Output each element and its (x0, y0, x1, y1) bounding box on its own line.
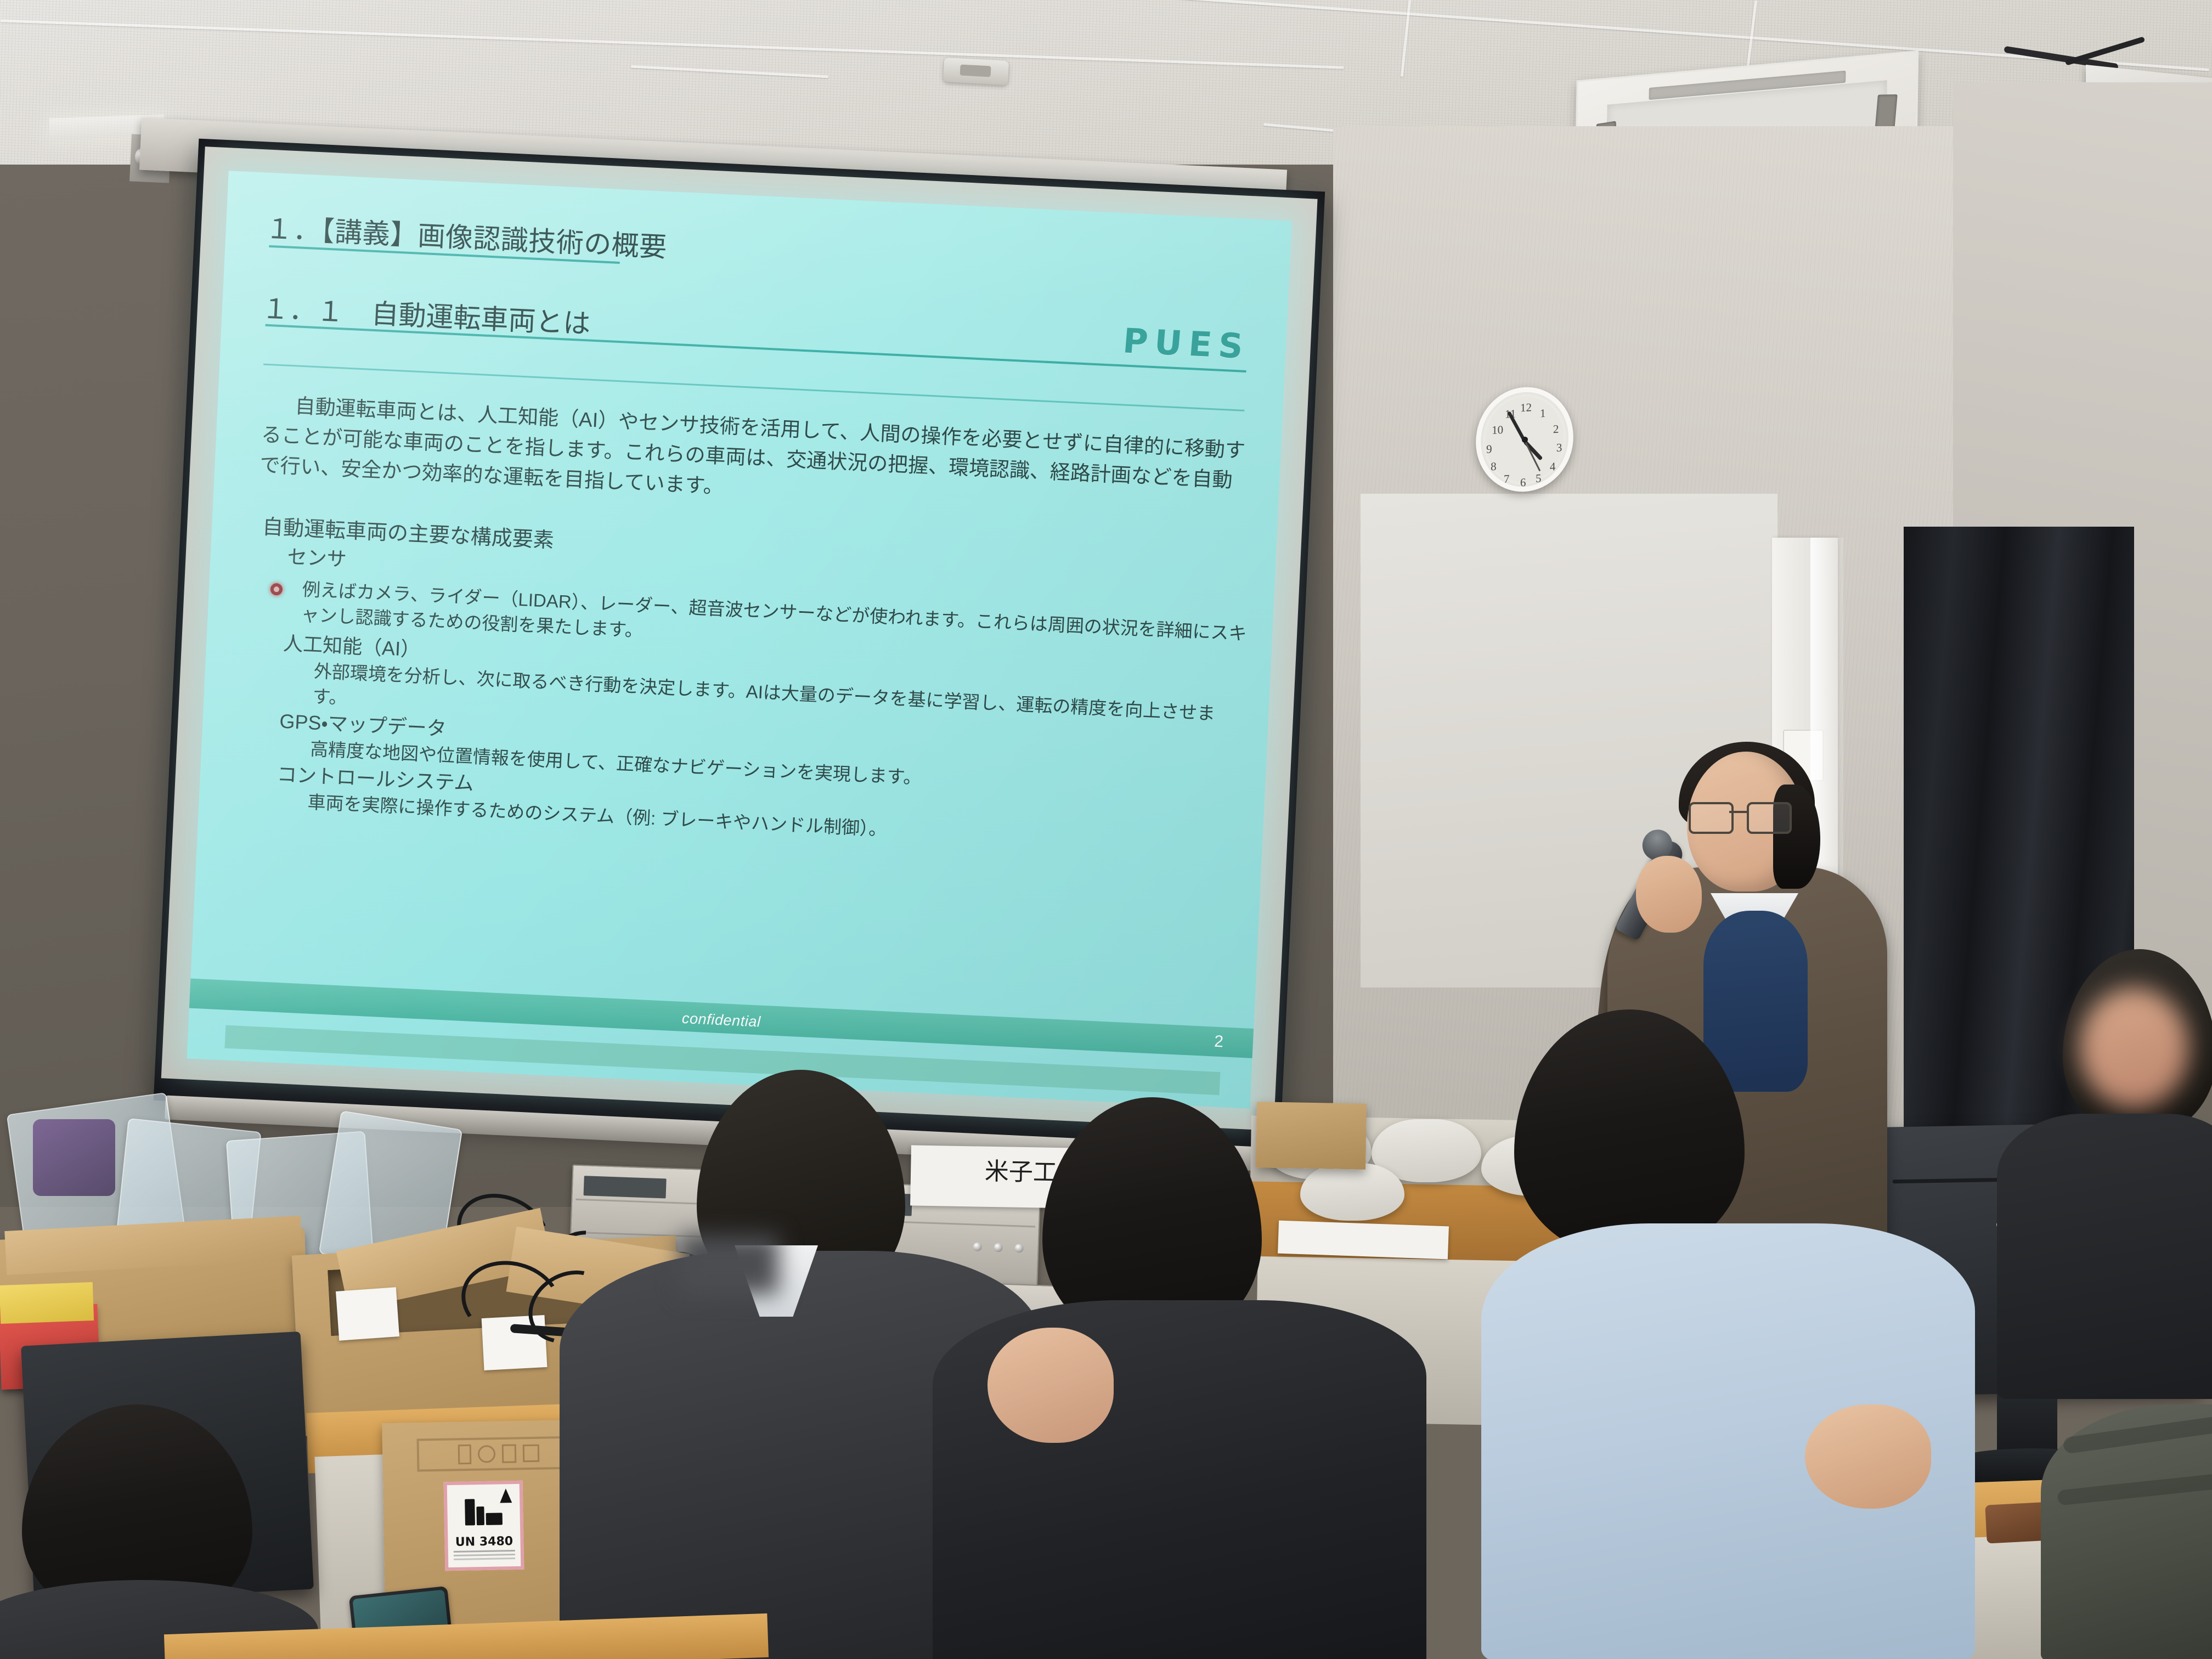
clock-numeral: 1 (1540, 407, 1545, 421)
clock-numeral: 2 (1553, 422, 1559, 437)
projection-screen: １．【講義】画像認識技術の概要 １．１ 自動運転車両とは PUES 自動運転車両… (154, 139, 1325, 1154)
venue-sign-text: 米子工 (984, 1152, 1057, 1188)
slide-components-list: センサ 例えばカメラ、ライダー（LIDAR）、レーダー、超音波センサーなどが使わ… (249, 541, 1254, 859)
projected-slide: １．【講義】画像認識技術の概要 １．１ 自動運転車両とは PUES 自動運転車両… (187, 171, 1291, 1109)
pues-logo: PUES (1121, 320, 1251, 366)
battery-hazard-icon (465, 1498, 503, 1525)
face-blur (2079, 988, 2189, 1108)
clock-numeral: 6 (1520, 476, 1526, 490)
lecture-room-photo: 12 1 2 3 4 5 6 7 8 9 10 11 １．【講義】画像認識技術の… (0, 0, 2212, 1659)
smoke-detector (943, 58, 1009, 85)
handling-symbols (416, 1436, 580, 1471)
slide-paragraph: 自動運転車両とは、人工知能（AI）やセンサ技術を活用して、人間の操作を必要とせず… (259, 390, 1250, 527)
clock-numeral: 5 (1536, 471, 1541, 486)
yellow-folder (0, 1282, 94, 1324)
screen-surface: １．【講義】画像認識技術の概要 １．１ 自動運転車両とは PUES 自動運転車両… (161, 146, 1318, 1131)
clock-center-pin (1522, 436, 1528, 443)
attendee-hand (1805, 1404, 1931, 1509)
headrest-cushion (1300, 1163, 1404, 1221)
label-fine-print (454, 1550, 515, 1553)
clock-numeral: 4 (1550, 460, 1555, 474)
glasses-icon (1689, 802, 1787, 831)
presenter-hand (1636, 856, 1702, 933)
slide-paragraph-block: 自動運転車両とは、人工知能（AI）やセンサ技術を活用して、人間の操作を必要とせず… (259, 390, 1250, 527)
un-code-label: UN 3480 (448, 1534, 520, 1549)
paper-sheet (1278, 1221, 1449, 1260)
clock-numeral: 10 (1492, 423, 1503, 437)
clock-numeral: 7 (1504, 472, 1509, 487)
clock-numeral: 12 (1520, 400, 1532, 415)
clock-numeral: 3 (1556, 441, 1562, 455)
attendee-hand (988, 1328, 1114, 1443)
clock-numeral: 8 (1491, 460, 1496, 474)
cardboard-box (1256, 1102, 1367, 1169)
un3480-hazard-label: UN 3480 (444, 1481, 524, 1571)
bagged-item (33, 1119, 115, 1196)
face-blur (680, 1234, 779, 1295)
slide-page-number: 2 (1214, 1032, 1224, 1052)
slide-section-rule (265, 324, 1246, 373)
clock-numeral: 9 (1486, 442, 1492, 456)
flame-icon (500, 1488, 512, 1503)
bullet-marker-icon (269, 582, 284, 597)
white-box (336, 1287, 399, 1340)
